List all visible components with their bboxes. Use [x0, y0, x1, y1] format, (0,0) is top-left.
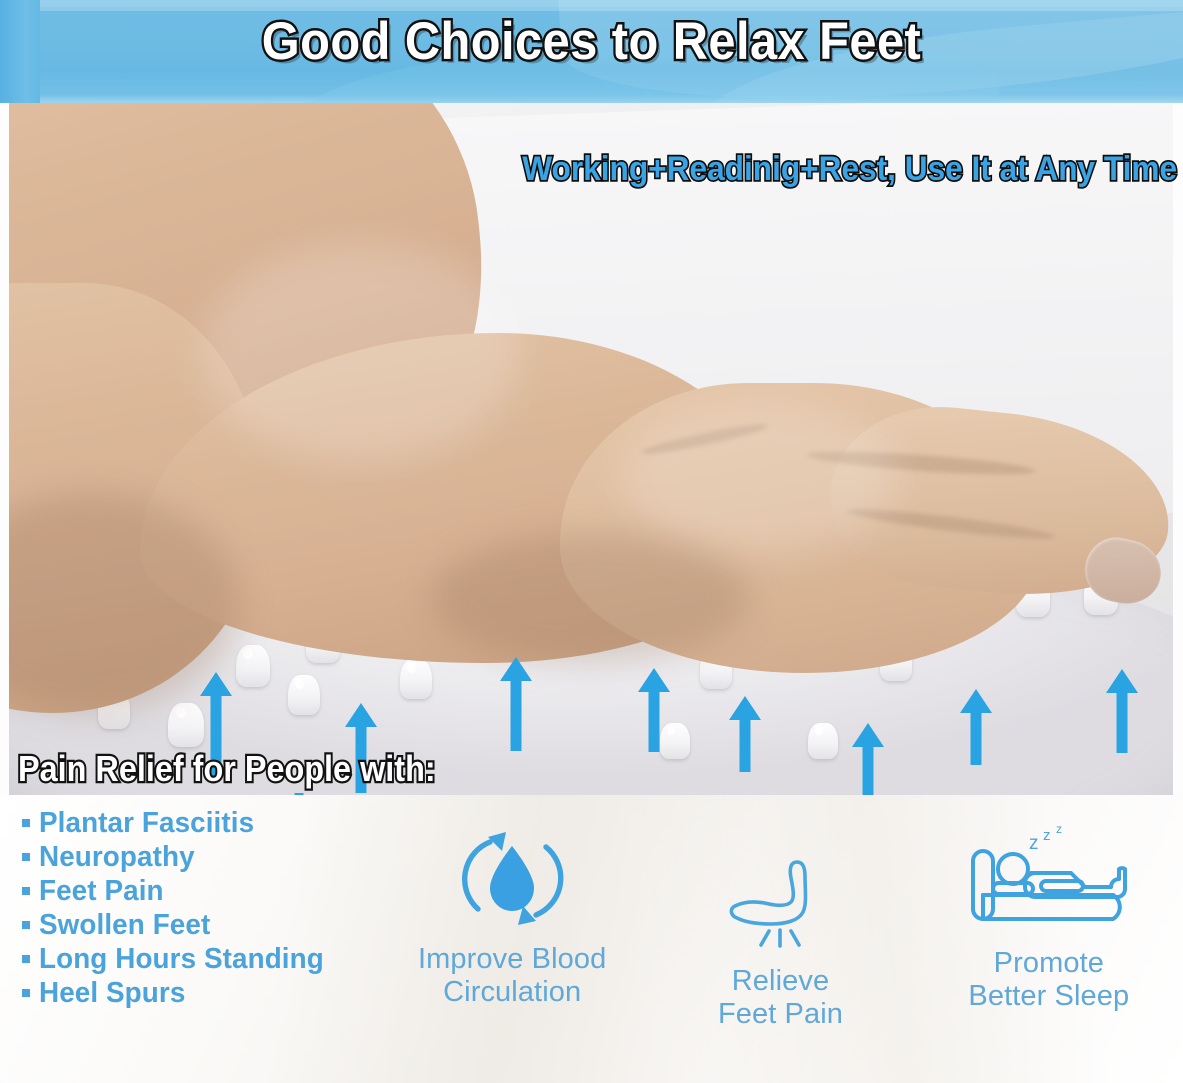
condition-label: Long Hours Standing: [39, 945, 324, 974]
hero-subtitle: Working+Readinig+Rest, Use It at Any Tim…: [522, 150, 1177, 189]
benefits-panel: Plantar Fasciitis Neuropathy Feet Pain S…: [0, 795, 1183, 1083]
banner-highlight-band: [40, 0, 1183, 11]
benefit-label-line1: Promote: [994, 947, 1104, 979]
arrow-up-icon: [1106, 669, 1138, 753]
banner-wave-decoration: [0, 70, 1183, 103]
benefit-promote-better-sleep: z z z Promote Better Sleep: [915, 825, 1183, 1013]
arrow-up-icon: [729, 696, 761, 772]
condition-label: Feet Pain: [39, 877, 164, 906]
pain-relief-heading: Pain Relief for People with:: [18, 748, 436, 790]
benefit-icons-row: Improve Blood Circulation: [378, 827, 1183, 1077]
massage-nub: [168, 703, 204, 747]
photo-right-margin: [1173, 103, 1183, 795]
arrow-up-icon: [638, 668, 670, 752]
benefit-label-line2: Feet Pain: [718, 998, 843, 1030]
bullet-square-icon: [22, 819, 30, 827]
arrow-up-icon: [960, 689, 992, 765]
condition-label: Plantar Fasciitis: [39, 809, 254, 838]
list-item: Neuropathy: [22, 843, 382, 872]
page-title: Good Choices to Relax Feet: [47, 15, 1135, 68]
list-item: Feet Pain: [22, 877, 382, 906]
skin-highlight: [620, 403, 900, 553]
benefit-icon-slot: z z z: [963, 825, 1135, 943]
bullet-square-icon: [22, 853, 30, 861]
benefit-label: Promote Better Sleep: [968, 947, 1129, 1013]
list-item: Long Hours Standing: [22, 945, 382, 974]
arrow-up-icon: [290, 793, 308, 795]
sleep-z-small: z: [1056, 825, 1062, 836]
product-infographic: Good Choices to Relax Feet: [0, 0, 1183, 1083]
benefit-label-line2: Better Sleep: [968, 980, 1129, 1012]
arrow-up-icon: [852, 723, 884, 795]
water-drop-circulation-icon: [444, 821, 580, 939]
conditions-list: Plantar Fasciitis Neuropathy Feet Pain S…: [22, 809, 382, 1013]
product-photo: [0, 103, 1183, 795]
bullet-square-icon: [22, 921, 30, 929]
benefit-improve-blood-circulation: Improve Blood Circulation: [378, 821, 646, 1009]
massage-nub: [808, 723, 838, 759]
benefit-label: Relieve Feet Pain: [718, 965, 843, 1031]
list-item: Swollen Feet: [22, 911, 382, 940]
list-item: Plantar Fasciitis: [22, 809, 382, 838]
benefit-label-line1: Improve Blood: [418, 943, 606, 975]
massage-nub: [288, 675, 320, 715]
condition-label: Heel Spurs: [39, 979, 185, 1008]
banner-left-edge: [0, 0, 40, 103]
condition-label: Swollen Feet: [39, 911, 210, 940]
massage-nub: [236, 645, 270, 687]
skin-highlight: [200, 243, 520, 463]
skin-shadow: [430, 533, 750, 663]
arrow-up-icon: [500, 657, 532, 751]
sleep-z-large: z: [1029, 833, 1039, 854]
benefit-label-line1: Relieve: [732, 965, 829, 997]
massage-nub: [400, 659, 432, 699]
header-banner: Good Choices to Relax Feet: [0, 0, 1183, 103]
bullet-square-icon: [22, 955, 30, 963]
benefit-relieve-feet-pain: Relieve Feet Pain: [646, 843, 914, 1031]
benefit-label-line2: Circulation: [443, 976, 581, 1008]
benefit-icon-slot: [717, 843, 843, 961]
person-sleeping-bed-icon: z z z: [963, 825, 1135, 943]
sleep-z-medium: z: [1043, 827, 1051, 844]
list-item: Heel Spurs: [22, 979, 382, 1008]
condition-label: Neuropathy: [39, 843, 195, 872]
photo-left-margin: [0, 103, 9, 795]
benefit-icon-slot: [444, 821, 580, 939]
benefit-label: Improve Blood Circulation: [418, 943, 606, 1009]
bullet-square-icon: [22, 989, 30, 997]
foot-pain-relief-icon: [717, 854, 843, 950]
bullet-square-icon: [22, 887, 30, 895]
